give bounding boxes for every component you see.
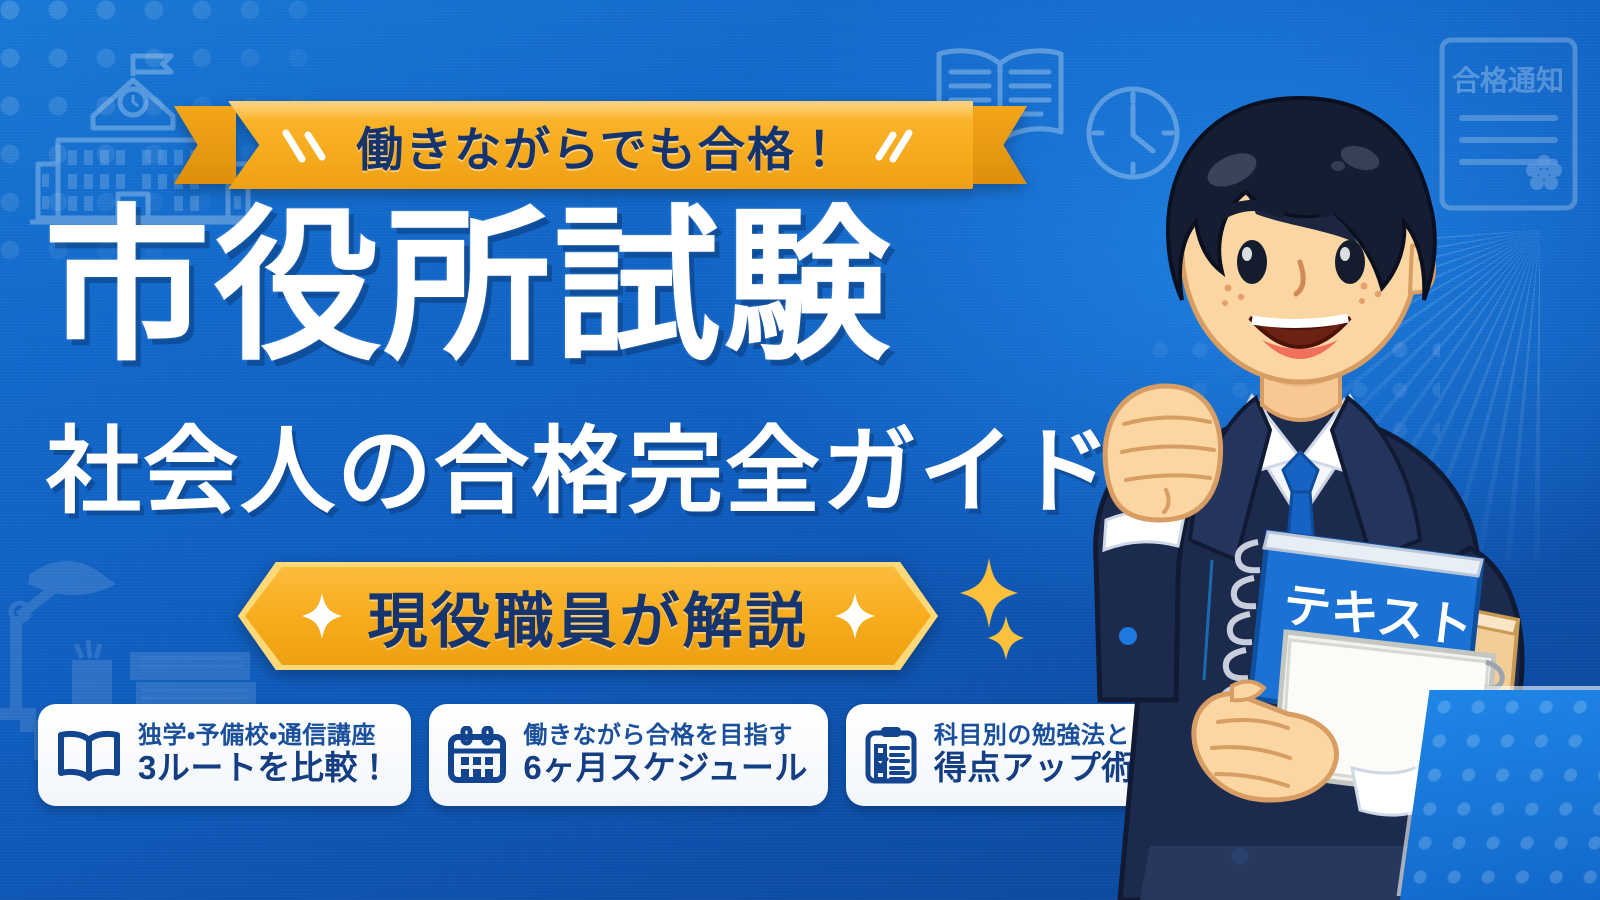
badge-label: 現役職員が解説 — [368, 573, 809, 660]
page-title: 市役所試験 — [44, 205, 894, 371]
feature-card-title: 6ヶ月スケジュール — [523, 750, 808, 787]
corner-blue-panel — [1400, 690, 1600, 900]
eye-left — [1237, 240, 1267, 284]
ribbon-banner: 働きながらでも合格！ — [228, 101, 973, 189]
feature-card-subtitle: 働きながら合格を目指す — [523, 723, 808, 750]
feature-card-routes[interactable]: 独学・予備校・通信講座 3ルートを比較！ — [38, 704, 411, 806]
badge-content: 現役職員が解説 — [238, 562, 938, 670]
feature-card-schedule[interactable]: 働きながら合格を目指す 6ヶ月スケジュール — [429, 704, 828, 806]
page-subtitle: 社会人の合格完全ガイド — [46, 425, 1113, 520]
character-illustration: テキスト — [1000, 0, 1600, 900]
feature-card-text: 働きながら合格を目指す 6ヶ月スケジュール — [523, 723, 808, 787]
ribbon-text: 働きながらでも合格！ — [228, 101, 973, 189]
feature-card-title: 3ルートを比較！ — [138, 750, 391, 787]
feature-card-subtitle: 独学・予備校・通信講座 — [138, 723, 391, 750]
feature-card-list: 独学・予備校・通信講座 3ルートを比較！ 働きながら合格を目指す — [38, 704, 1155, 806]
status-badge: 現役職員が解説 — [238, 562, 938, 670]
suit-button — [1119, 627, 1137, 645]
feature-card-text: 独学・予備校・通信講座 3ルートを比較！ — [138, 723, 391, 787]
open-book-icon — [56, 729, 122, 781]
sparkle-icon — [300, 591, 344, 641]
eye-right — [1335, 240, 1365, 284]
calendar-icon — [447, 726, 507, 784]
clipboard-checklist-icon — [864, 725, 918, 785]
sparkle-icon — [833, 591, 877, 641]
banner-root: 合格通知 — [0, 0, 1600, 900]
